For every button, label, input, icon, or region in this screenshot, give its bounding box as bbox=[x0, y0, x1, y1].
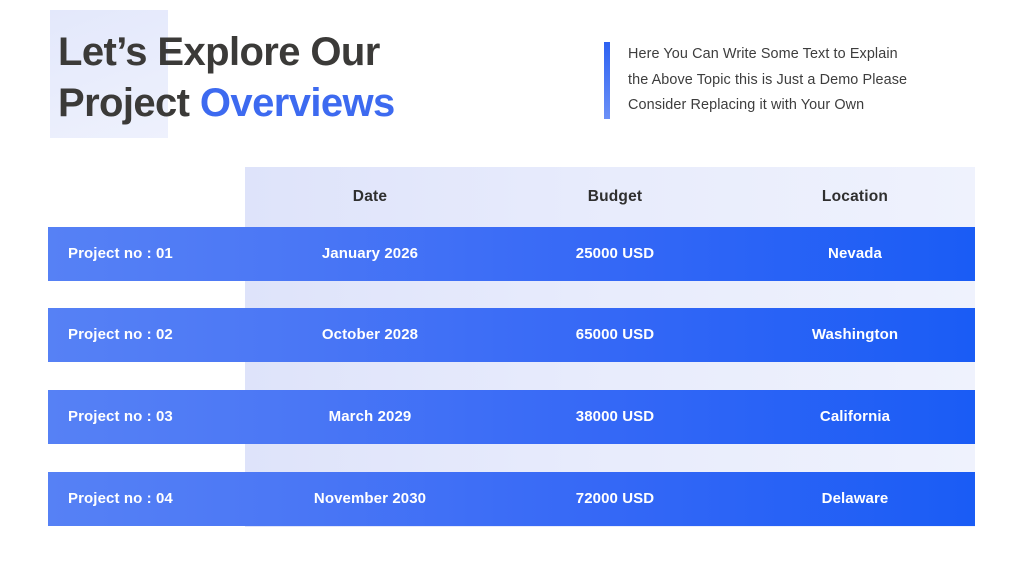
column-header-location: Location bbox=[735, 167, 975, 227]
description-block: Here You Can Write Some Text to Explain … bbox=[604, 42, 994, 119]
table-row[interactable]: Project no : 01 January 2026 25000 USD N… bbox=[48, 227, 975, 281]
column-header-budget: Budget bbox=[495, 167, 735, 227]
title-line-2-plain: Project bbox=[58, 81, 200, 125]
page-title: Let’s Explore Our Project Overviews bbox=[58, 27, 578, 129]
title-line-2-accent: Overviews bbox=[200, 81, 395, 125]
cell-project: Project no : 04 bbox=[68, 472, 248, 526]
cell-project: Project no : 01 bbox=[68, 227, 248, 281]
description-text: Here You Can Write Some Text to Explain … bbox=[628, 42, 907, 119]
title-line-2: Project Overviews bbox=[58, 78, 578, 129]
table-header-row: Date Budget Location bbox=[245, 167, 975, 227]
cell-project: Project no : 02 bbox=[68, 308, 248, 362]
slide-canvas: Let’s Explore Our Project Overviews Here… bbox=[0, 0, 1024, 576]
cell-budget: 65000 USD bbox=[495, 308, 735, 362]
cell-location: Delaware bbox=[735, 472, 975, 526]
cell-date: March 2029 bbox=[245, 390, 495, 444]
cell-date: November 2030 bbox=[245, 472, 495, 526]
cell-budget: 72000 USD bbox=[495, 472, 735, 526]
cell-location: Nevada bbox=[735, 227, 975, 281]
column-header-date: Date bbox=[245, 167, 495, 227]
table-row[interactable]: Project no : 03 March 2029 38000 USD Cal… bbox=[48, 390, 975, 444]
table-row[interactable]: Project no : 04 November 2030 72000 USD … bbox=[48, 472, 975, 526]
cell-budget: 38000 USD bbox=[495, 390, 735, 444]
cell-location: Washington bbox=[735, 308, 975, 362]
table-row[interactable]: Project no : 02 October 2028 65000 USD W… bbox=[48, 308, 975, 362]
cell-budget: 25000 USD bbox=[495, 227, 735, 281]
cell-location: California bbox=[735, 390, 975, 444]
cell-date: October 2028 bbox=[245, 308, 495, 362]
cell-date: January 2026 bbox=[245, 227, 495, 281]
description-line-1: Here You Can Write Some Text to Explain bbox=[628, 42, 907, 68]
description-line-2: the Above Topic this is Just a Demo Plea… bbox=[628, 68, 907, 94]
accent-bar-shape bbox=[604, 42, 610, 119]
title-line-1: Let’s Explore Our bbox=[58, 27, 578, 78]
description-line-3: Consider Replacing it with Your Own bbox=[628, 93, 907, 119]
cell-project: Project no : 03 bbox=[68, 390, 248, 444]
